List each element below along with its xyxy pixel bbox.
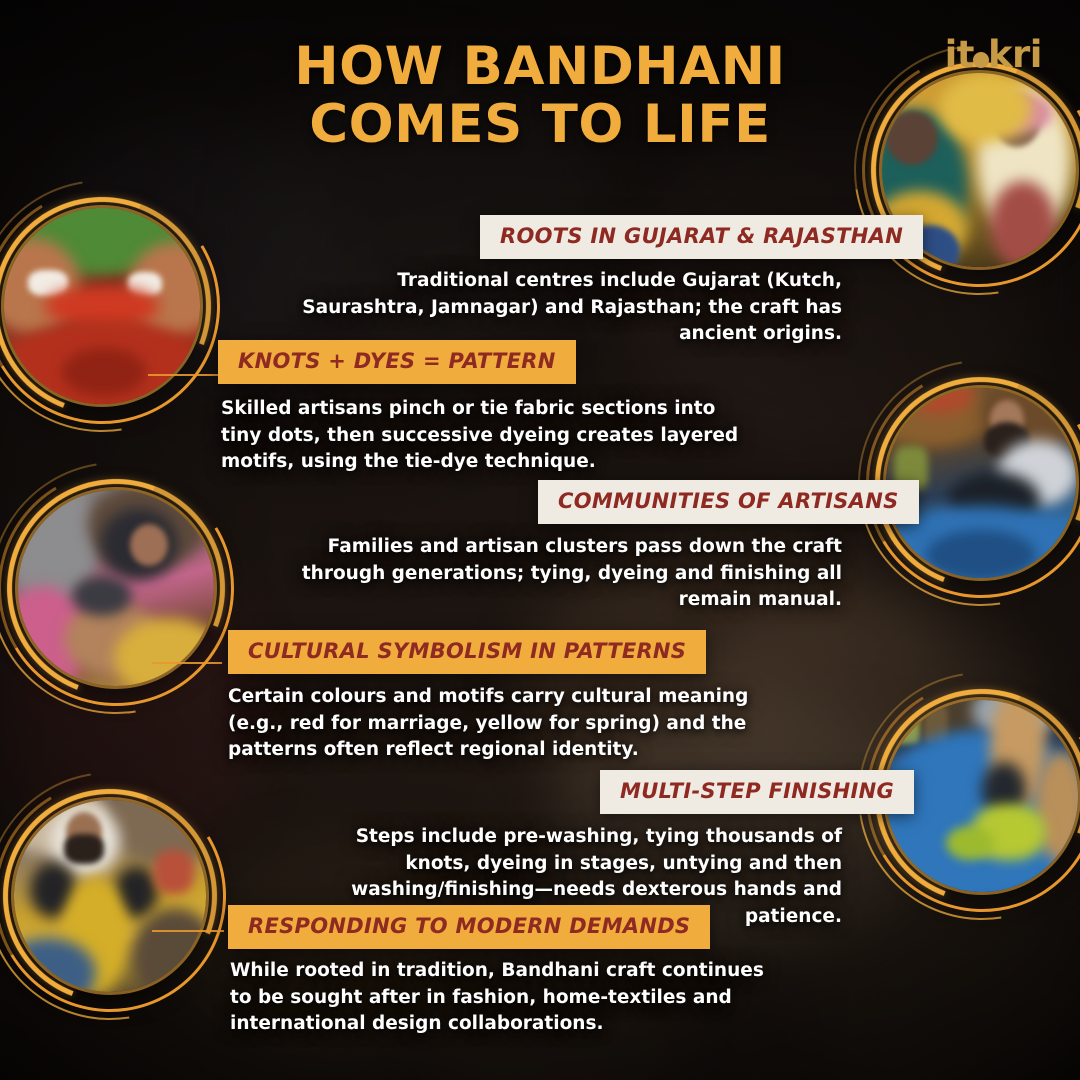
badge-roots-in-gujarat-rajasthan[interactable]: ROOTS IN GUJARAT & RAJASTHAN xyxy=(480,215,923,259)
body-text-cultural-symbolism: Certain colours and motifs carry cultura… xyxy=(228,684,776,764)
photo-man-lifting-yellow-cloth xyxy=(14,800,206,992)
connector-line-modern xyxy=(152,930,224,932)
photo-image xyxy=(18,490,214,686)
photo-woman-artisan-seated xyxy=(18,490,214,686)
photo-image xyxy=(14,800,206,992)
connector-line-cultural xyxy=(152,662,222,664)
itokri-logo: itkri xyxy=(945,36,1042,73)
page-title-line-2: COMES TO LIFE xyxy=(0,96,1080,154)
badge-cultural-symbolism-in-patterns[interactable]: CULTURAL SYMBOLISM IN PATTERNS xyxy=(228,630,706,674)
photo-cloth-in-dye-vat xyxy=(886,700,1078,892)
badge-multi-step-finishing[interactable]: MULTI-STEP FINISHING xyxy=(600,770,914,814)
logo-wordmark: itkri xyxy=(945,33,1042,76)
body-text-roots: Traditional centres include Gujarat (Kut… xyxy=(270,268,842,348)
connector-line-knots xyxy=(148,374,218,376)
photo-image xyxy=(886,700,1078,892)
body-text-knots-dyes: Skilled artisans pinch or tie fabric sec… xyxy=(221,396,741,476)
page-title: HOW BANDHANI COMES TO LIFE xyxy=(0,38,1080,155)
page-title-line-1: HOW BANDHANI xyxy=(294,36,786,97)
photo-disc xyxy=(886,700,1078,892)
badge-communities-of-artisans[interactable]: COMMUNITIES OF ARTISANS xyxy=(538,480,919,524)
badge-responding-to-modern-demands[interactable]: RESPONDING TO MODERN DEMANDS xyxy=(228,905,710,949)
photo-disc xyxy=(18,490,214,686)
body-text-communities: Families and artisan clusters pass down … xyxy=(246,534,842,614)
logo-circle-icon xyxy=(973,52,989,68)
badge-knots-dyes-pattern[interactable]: KNOTS + DYES = PATTERN xyxy=(218,340,576,384)
body-text-modern-demands: While rooted in tradition, Bandhani craf… xyxy=(230,958,778,1038)
photo-disc xyxy=(14,800,206,992)
